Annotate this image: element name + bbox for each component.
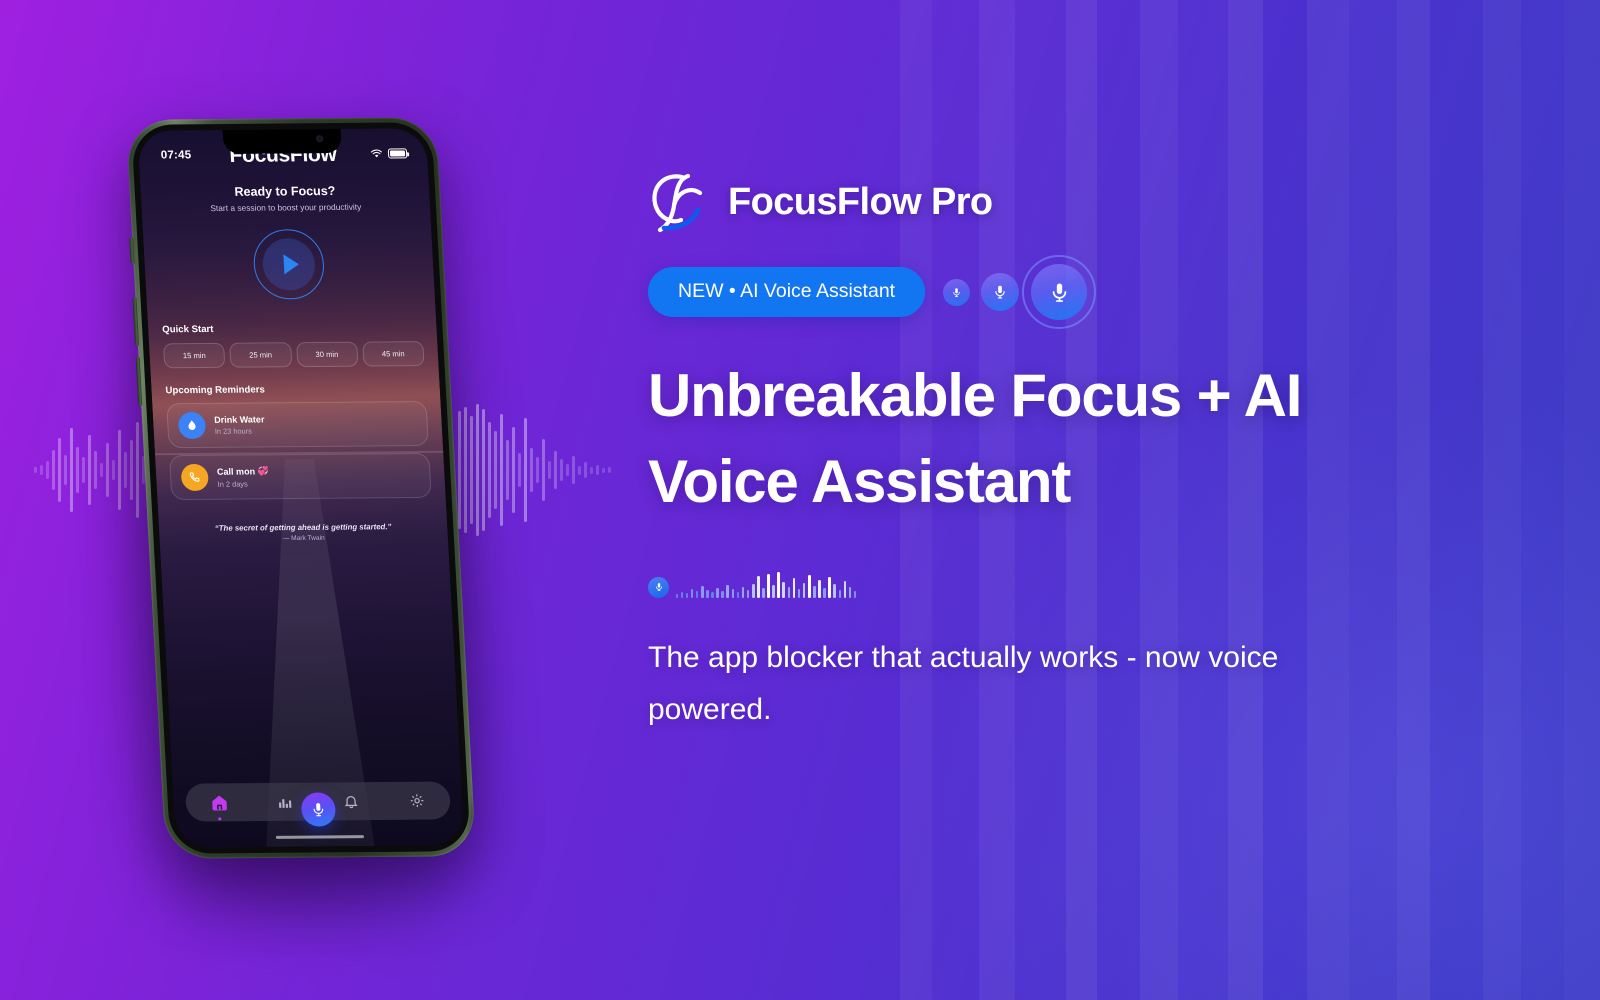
- waveform-bar: [512, 427, 515, 513]
- voice-waveform-bar: [798, 589, 801, 598]
- microphone-icon: [310, 801, 327, 817]
- ready-heading: Ready to Focus?: [140, 183, 429, 199]
- background-stripe: [1521, 0, 1564, 1000]
- voice-waveform-bar: [808, 575, 811, 598]
- nav-item-settings[interactable]: [405, 790, 428, 812]
- reminder-subtitle: In 2 days: [217, 479, 269, 488]
- status-bar: 07:45: [137, 128, 427, 170]
- waveform-bar: [608, 467, 611, 473]
- hero-content: FocusFlow Pro NEW • AI Voice Assistant: [648, 0, 1408, 1000]
- mic-bubble-medium[interactable]: [981, 273, 1019, 311]
- hero-subheadline: The app blocker that actually works - no…: [648, 632, 1378, 736]
- phone-call-icon: [181, 464, 209, 491]
- voice-waveform-bar: [777, 572, 780, 598]
- quick-start-label: Quick Start: [148, 322, 437, 335]
- voice-waveform-bar: [803, 583, 806, 598]
- microphone-icon: [654, 582, 664, 592]
- voice-waveform-bar: [793, 578, 796, 598]
- reminder-item[interactable]: Call mon 💞In 2 days: [169, 453, 432, 500]
- reminders-label: Upcoming Reminders: [151, 383, 440, 396]
- voice-waveform-bar: [813, 586, 816, 598]
- bar-chart-icon: [277, 794, 294, 810]
- voice-waveform-bar: [716, 588, 719, 598]
- background-stripe: [1483, 0, 1521, 1000]
- waveform-bar: [76, 447, 79, 493]
- quick-start-chip-2[interactable]: 30 min: [296, 342, 359, 367]
- home-icon: [210, 794, 228, 811]
- voice-waveform-bar: [844, 581, 847, 598]
- voice-waveform-bar: [726, 585, 729, 598]
- status-time: 07:45: [160, 149, 191, 161]
- ready-subtitle: Start a session to boost your productivi…: [141, 201, 430, 214]
- quick-start-chip-0[interactable]: 15 min: [163, 343, 226, 368]
- voice-waveform-bar: [788, 587, 791, 598]
- waveform-bar: [70, 428, 73, 512]
- gear-icon: [409, 793, 426, 809]
- nav-item-stats[interactable]: [273, 791, 296, 813]
- voice-waveform-bar: [747, 590, 750, 598]
- waveform-bar: [52, 450, 55, 490]
- nav-item-reminders[interactable]: [339, 790, 362, 812]
- voice-widget-mic-button[interactable]: [648, 577, 669, 598]
- microphone-icon: [951, 287, 962, 298]
- brand-name: FocusFlow Pro: [728, 181, 993, 224]
- voice-waveform-bar: [681, 592, 684, 598]
- reminder-subtitle: In 23 hours: [215, 426, 266, 435]
- hero-banner: 07:45 FocusFlow Ready to Focus? Start a …: [0, 0, 1600, 1000]
- background-stripe: [1564, 0, 1600, 1000]
- voice-waveform-bar: [752, 584, 755, 598]
- voice-waveform-bar: [762, 588, 765, 598]
- voice-waveform-widget: [648, 572, 1408, 598]
- voice-waveform-bar: [742, 587, 745, 598]
- quick-start-chip-1[interactable]: 25 min: [229, 342, 292, 367]
- quick-start-chip-3[interactable]: 45 min: [362, 341, 425, 366]
- phone-frame: 07:45 FocusFlow Ready to Focus? Start a …: [126, 117, 476, 859]
- waveform-bar: [58, 438, 61, 502]
- phone-screen: 07:45 FocusFlow Ready to Focus? Start a …: [137, 128, 464, 847]
- reminder-title: Drink Water: [214, 414, 265, 424]
- waveform-bar: [88, 435, 91, 505]
- waveform-bar: [524, 418, 527, 522]
- waveform-bar: [530, 448, 533, 492]
- voice-waveform-bar: [732, 589, 735, 598]
- voice-waveform-bar: [833, 584, 836, 598]
- voice-waveform-bar: [823, 588, 826, 598]
- hero-headline: Unbreakable Focus + AI Voice Assistant: [648, 353, 1408, 526]
- bell-icon: [343, 793, 360, 809]
- reminder-item[interactable]: Drink WaterIn 23 hours: [166, 401, 429, 448]
- waveform-bar: [100, 463, 103, 477]
- voice-waveform-bar: [711, 592, 714, 598]
- voice-waveform-bar: [767, 574, 770, 598]
- quote-block: “The secret of getting ahead is getting …: [159, 522, 448, 543]
- voice-waveform-bar: [696, 591, 699, 598]
- background-stripe: [1430, 0, 1483, 1000]
- waveform-bar: [542, 439, 545, 501]
- waveform-bar: [596, 465, 599, 475]
- voice-waveform-bar: [676, 594, 679, 598]
- mic-pulse-ring: [1022, 255, 1096, 329]
- new-feature-badge[interactable]: NEW • AI Voice Assistant: [648, 267, 925, 317]
- phone-mute-switch: [129, 238, 134, 264]
- home-indicator: [276, 835, 364, 839]
- waveform-bar: [34, 467, 37, 473]
- waveform-bar: [602, 468, 605, 473]
- badge-row: NEW • AI Voice Assistant: [648, 264, 1408, 320]
- phone-notch: [222, 128, 342, 154]
- nav-item-home[interactable]: [207, 791, 230, 813]
- voice-waveform-bar: [706, 590, 709, 598]
- reminder-title: Call mon 💞: [217, 466, 269, 477]
- waveform-bar: [46, 461, 49, 479]
- quote-author: — Mark Twain: [173, 534, 434, 543]
- quote-text: “The secret of getting ahead is getting …: [173, 522, 434, 533]
- microphone-icon: [992, 284, 1008, 300]
- waveform-bar: [578, 466, 581, 475]
- nav-active-dot: [218, 817, 221, 820]
- waveform-bar: [94, 451, 97, 489]
- voice-waveform-bar: [828, 577, 831, 598]
- status-icons: [370, 148, 408, 158]
- water-drop-icon: [178, 412, 206, 439]
- waveform-bar: [572, 456, 575, 484]
- voice-waveform-bar: [849, 587, 852, 598]
- waveform-bar: [82, 457, 85, 483]
- voice-waveform-bar: [757, 576, 760, 598]
- battery-icon: [388, 148, 408, 158]
- voice-waveform-bar: [854, 591, 857, 598]
- waveform-bar: [40, 465, 43, 475]
- voice-waveform-bar: [691, 589, 694, 598]
- play-icon: [283, 254, 299, 274]
- waveform-bar: [548, 461, 551, 479]
- voice-waveform-bar: [839, 590, 842, 598]
- start-session-button[interactable]: [252, 229, 326, 300]
- waveform-bar: [64, 455, 67, 485]
- brand-lockup: FocusFlow Pro: [648, 168, 1408, 236]
- voice-waveform-bar: [721, 591, 724, 598]
- waveform-bar: [536, 457, 539, 483]
- waveform-bar: [566, 464, 569, 476]
- focusflow-swoosh-logo: [648, 168, 710, 236]
- waveform-bar: [584, 462, 587, 478]
- mic-bubble-large-wrapper: [1031, 264, 1087, 320]
- wifi-icon: [370, 149, 384, 159]
- voice-waveform-bar: [686, 593, 689, 598]
- waveform-bar: [590, 467, 593, 474]
- waveform-bar: [518, 453, 521, 487]
- voice-waveform-bar: [701, 586, 704, 598]
- waveform-bar: [560, 459, 563, 481]
- voice-waveform-bar: [737, 592, 740, 598]
- waveform-bar: [554, 451, 557, 489]
- front-camera-icon: [316, 135, 323, 142]
- voice-waveform-bar: [782, 582, 785, 598]
- mic-bubble-small[interactable]: [943, 279, 970, 306]
- voice-waveform-bar: [818, 580, 821, 598]
- quick-start-chips: 15 min25 min30 min45 min: [149, 341, 439, 368]
- voice-waveform-bar: [772, 585, 775, 598]
- phone-mockup: 07:45 FocusFlow Ready to Focus? Start a …: [126, 117, 476, 859]
